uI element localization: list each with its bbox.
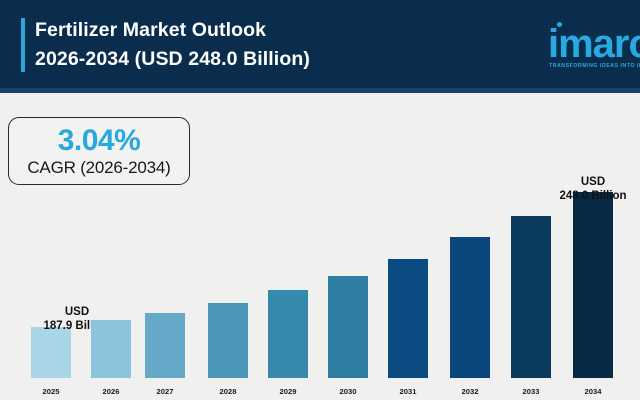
x-axis-label-2031: 2031 — [388, 387, 428, 396]
imarc-logo[interactable]: imarc TRANSFORMING IDEAS INTO IM — [548, 22, 640, 72]
bar-group-2029: 2029 — [268, 93, 308, 400]
bar-group-2025: 2025USD 187.9 Billion — [31, 93, 71, 400]
bar-group-2027: 2027 — [145, 93, 185, 400]
bar-2031[interactable] — [388, 259, 428, 378]
bar-2025[interactable] — [31, 327, 71, 378]
x-axis-label-2029: 2029 — [268, 387, 308, 396]
x-axis-label-2027: 2027 — [145, 387, 185, 396]
x-axis-label-2028: 2028 — [208, 387, 248, 396]
bar-group-2032: 2032 — [450, 93, 490, 400]
x-axis-label-2034: 2034 — [573, 387, 613, 396]
bar-2032[interactable] — [450, 237, 490, 378]
bar-group-2034: 2034USD 248.0 Billion — [573, 93, 613, 400]
bar-2030[interactable] — [328, 276, 368, 378]
x-axis-label-2030: 2030 — [328, 387, 368, 396]
bar-2028[interactable] — [208, 303, 248, 378]
bar-2033[interactable] — [511, 216, 551, 378]
bar-2027[interactable] — [145, 313, 185, 378]
bar-2026[interactable] — [91, 320, 131, 378]
bar-group-2033: 2033 — [511, 93, 551, 400]
logo-wordmark: imarc — [548, 24, 640, 64]
bar-group-2028: 2028 — [208, 93, 248, 400]
page-title-line-1: Fertilizer Market Outlook — [35, 16, 485, 45]
logo-tagline: TRANSFORMING IDEAS INTO IM — [549, 63, 640, 69]
x-axis-label-2032: 2032 — [450, 387, 490, 396]
x-axis-label-2025: 2025 — [31, 387, 71, 396]
page-title-line-2: 2026-2034 (USD 248.0 Billion) — [35, 45, 485, 74]
bar-group-2031: 2031 — [388, 93, 428, 400]
callout-last-value: USD 248.0 Billion — [518, 175, 640, 203]
bar-chart: 2025USD 187.9 Billion2026202720282029203… — [0, 93, 640, 400]
page-title: Fertilizer Market Outlook 2026-2034 (USD… — [35, 16, 485, 74]
x-axis-label-2033: 2033 — [511, 387, 551, 396]
x-axis-label-2026: 2026 — [91, 387, 131, 396]
bar-group-2030: 2030 — [328, 93, 368, 400]
header-banner: Fertilizer Market Outlook 2026-2034 (USD… — [0, 0, 640, 93]
bar-group-2026: 2026 — [91, 93, 131, 400]
title-accent-bar — [21, 18, 25, 72]
bar-2034[interactable] — [573, 192, 613, 378]
bar-2029[interactable] — [268, 290, 308, 378]
